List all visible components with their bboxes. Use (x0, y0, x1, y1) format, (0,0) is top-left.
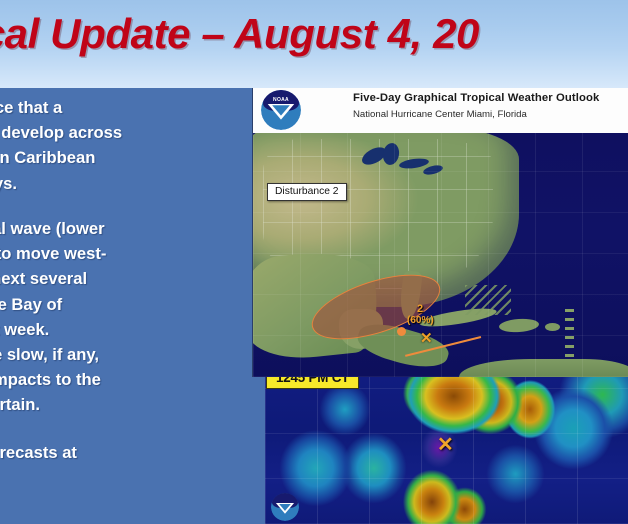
slide-header-band: ropical Update – August 4, 20 (0, 0, 628, 88)
paragraph-probability-text: chance that a clone will develop across … (0, 98, 122, 193)
noaa-logo-icon (271, 493, 299, 521)
map-latlon-grid (253, 133, 628, 377)
text-column: 0%) chance that a clone will develop acr… (0, 88, 252, 524)
satellite-storm-x-marker-icon: ✕ (437, 435, 454, 455)
disturbance-tag-label[interactable]: Disturbance 2 (267, 183, 347, 201)
map-subtitle: National Hurricane Center Miami, Florida (353, 109, 628, 120)
page-title: ropical Update – August 4, 20 (0, 10, 479, 58)
paragraph-probability: 0%) chance that a clone will develop acr… (0, 95, 252, 196)
map-header: NOAA Five-Day Graphical Tropical Weather… (253, 88, 628, 134)
storm-x-marker-icon: ✕ (420, 331, 433, 346)
slide-body: 0%) chance that a clone will develop acr… (0, 88, 628, 524)
disturbance-origin-dot (397, 327, 406, 336)
map-imagery[interactable]: ✕ 2 (60%) Disturbance 2 (253, 133, 628, 377)
noaa-logo-text: NOAA (261, 97, 301, 103)
noaa-logo-icon: NOAA (261, 90, 301, 130)
paragraph-tropical-wave: ed tropical wave (lower continue to move… (0, 216, 252, 418)
storm-number-label: 2 (417, 303, 423, 315)
tropical-outlook-map-panel[interactable]: NOAA Five-Day Graphical Tropical Weather… (252, 88, 628, 377)
map-title: Five-Day Graphical Tropical Weather Outl… (353, 92, 628, 104)
timestamp-badge: 1245 PM CT (266, 377, 359, 389)
storm-probability-label: (60%) (407, 315, 434, 326)
satellite-imagery-panel[interactable]: ✕ 1245 PM CT (265, 377, 628, 524)
paragraph-forecast-link: e latest forecasts at ov/rgv. (0, 440, 252, 490)
